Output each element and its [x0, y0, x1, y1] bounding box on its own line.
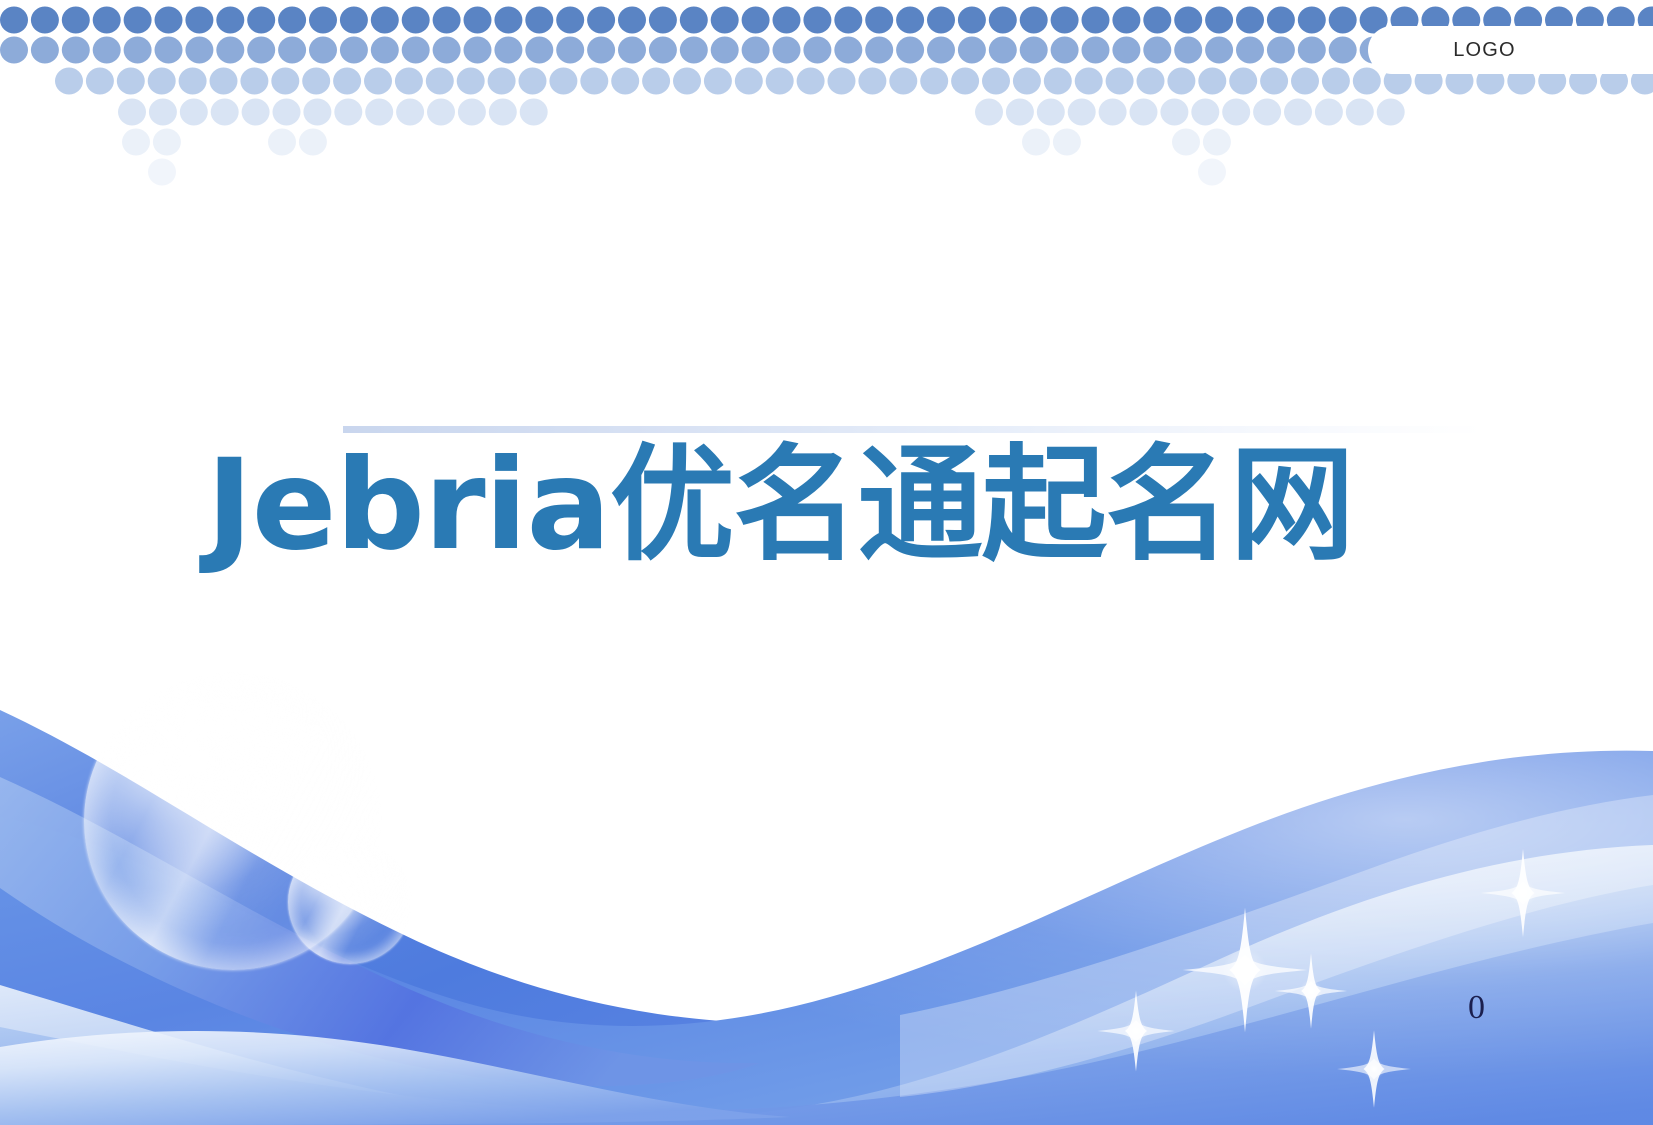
- blue-wave-graphic: [0, 655, 1653, 1125]
- title-underline-rule: [343, 426, 1483, 433]
- page-title: Jebria优名通起名网: [0, 436, 1560, 576]
- logo-label: LOGO: [1453, 39, 1516, 62]
- page-number: 0: [1468, 991, 1485, 1025]
- presentation-slide: LOGO Jebria优名通起名网 0: [0, 0, 1653, 1125]
- logo-placeholder[interactable]: LOGO: [1368, 26, 1653, 74]
